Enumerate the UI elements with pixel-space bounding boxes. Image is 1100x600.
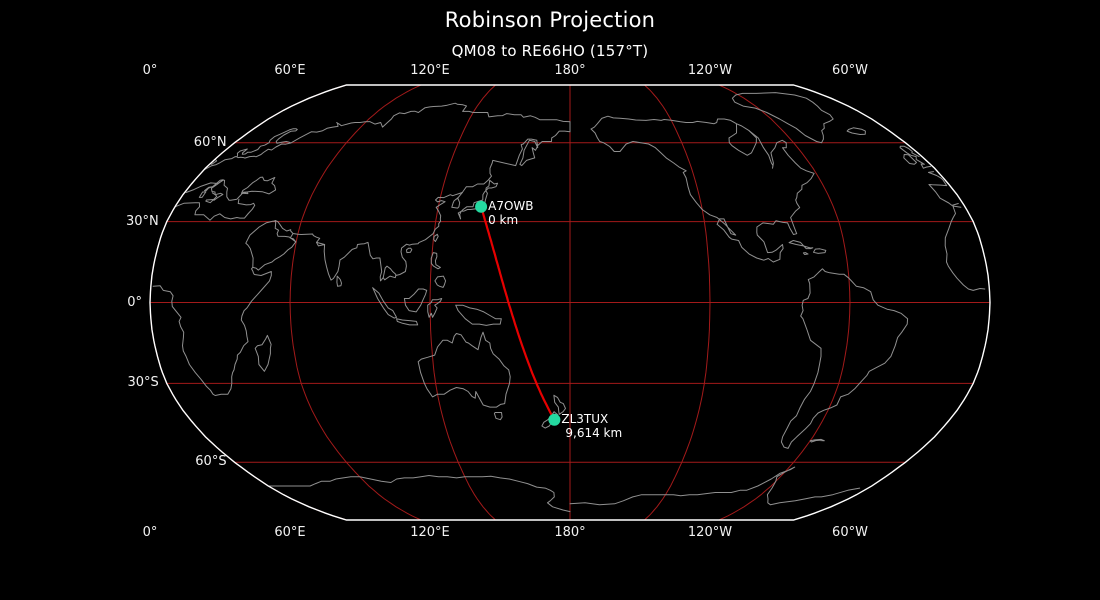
lat-tick-2: 0° [127,295,142,310]
robinson-map-svg [0,0,1100,600]
marker-label-zl3tux: ZL3TUX9,614 km [561,412,622,440]
lon-tick-top-3: 180° [554,63,585,78]
lon-tick-bottom-0: 0° [143,525,158,540]
marker-callsign: A7OWB [488,199,533,213]
map-canvas: Robinson Projection QM08 to RE66HO (157°… [0,0,1100,600]
lat-tick-3: 30°S [128,375,159,390]
marker-callsign: ZL3TUX [561,412,622,426]
lon-tick-top-4: 120°W [688,63,732,78]
lon-tick-bottom-5: 60°W [832,525,868,540]
lon-tick-bottom-2: 120°E [410,525,450,540]
lon-tick-bottom-3: 180° [554,525,585,540]
station-marker-a7owb[interactable] [475,201,487,213]
lat-tick-1: 30°N [126,214,159,229]
lon-tick-top-1: 60°E [274,63,305,78]
station-markers[interactable] [475,201,560,426]
great-circle-path [481,207,554,420]
lon-tick-top-2: 120°E [410,63,450,78]
marker-label-a7owb: A7OWB0 km [488,199,533,227]
marker-distance: 9,614 km [565,426,622,440]
lon-tick-top-5: 60°W [832,63,868,78]
station-marker-zl3tux[interactable] [548,414,560,426]
map-graticule-layer [150,85,990,520]
lon-tick-bottom-1: 60°E [274,525,305,540]
lon-tick-bottom-4: 120°W [688,525,732,540]
lat-tick-0: 60°N [194,135,227,150]
lon-tick-top-0: 0° [143,63,158,78]
lat-tick-4: 60°S [195,454,226,469]
marker-distance: 0 km [488,213,533,227]
